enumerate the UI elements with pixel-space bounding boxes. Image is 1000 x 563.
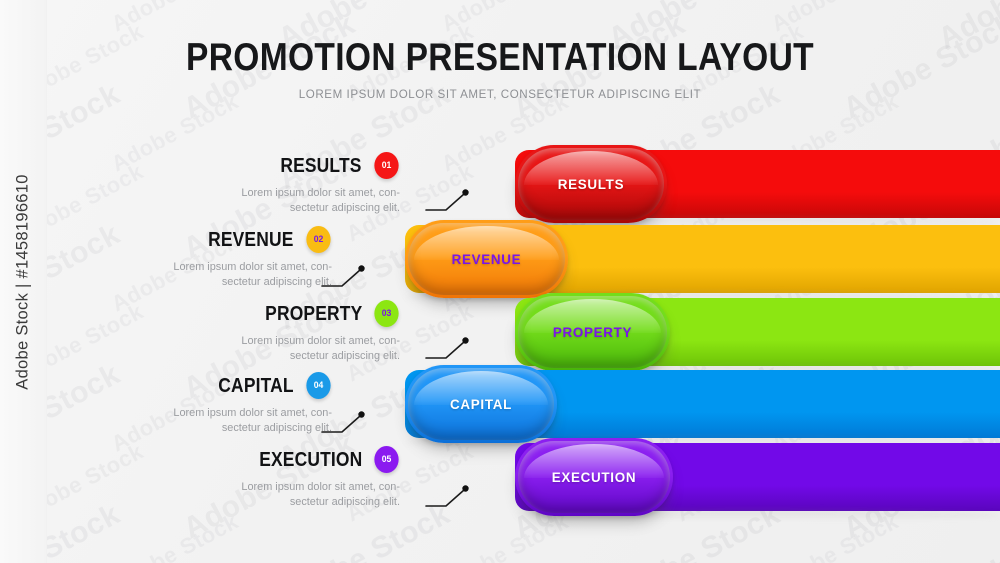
info-row: REVENUE (0, 225, 1000, 293)
category-pill[interactable]: PROPERTY (515, 293, 670, 371)
header: PROMOTION PRESENTATION LAYOUT LOREM IPSU… (0, 38, 1000, 101)
connector-line-icon (320, 262, 368, 292)
connector-line-icon (424, 334, 472, 364)
page-title: PROMOTION PRESENTATION LAYOUT (70, 38, 930, 77)
info-row: PROPERTY (0, 298, 1000, 366)
connector-line-icon (424, 482, 472, 512)
pill-label: EXECUTION (552, 470, 636, 485)
info-row: EXECUTION (0, 443, 1000, 511)
category-pill[interactable]: REVENUE (405, 220, 568, 298)
category-pill[interactable]: RESULTS (515, 145, 667, 223)
page-subtitle: LOREM IPSUM DOLOR SIT AMET, CONSECTETUR … (0, 88, 1000, 101)
info-row: CAPITAL (0, 370, 1000, 438)
connector-line-icon (424, 186, 472, 216)
infographic-canvas: Adobe StockAdobe StockAdobe StockAdobe S… (0, 0, 1000, 563)
pill-label: RESULTS (558, 177, 624, 192)
info-row: RESULTS (0, 150, 1000, 218)
credit-text: Adobe Stock | #1458196610 (14, 174, 33, 389)
category-pill[interactable]: CAPITAL (405, 365, 557, 443)
category-pill[interactable]: EXECUTION (515, 438, 673, 516)
adobe-stock-credit-bar: Adobe Stock | #1458196610 (0, 0, 47, 563)
connector-line-icon (320, 408, 368, 438)
pill-label: REVENUE (452, 252, 522, 267)
pill-label: PROPERTY (553, 325, 632, 340)
pill-label: CAPITAL (450, 397, 512, 412)
